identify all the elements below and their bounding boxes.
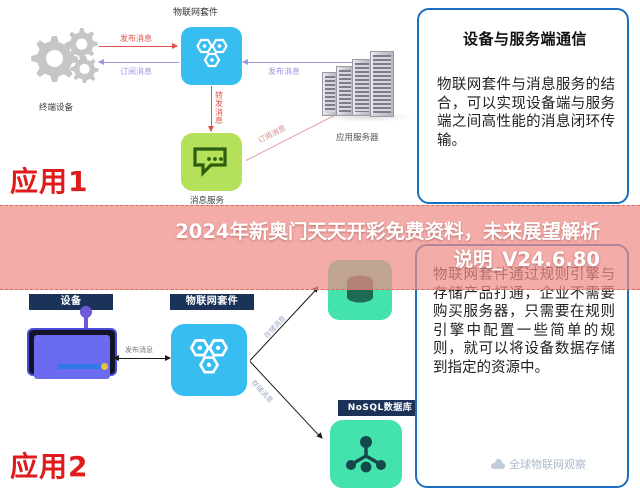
nosql-db-tag: NoSQL数据库 xyxy=(338,400,422,416)
promo-banner-line1: 2024年新奥门天天开彩免费资料，未来展望解析 xyxy=(175,220,600,243)
card-top-title: 设备与服务端通信 xyxy=(429,28,621,49)
device-tag: 设备 xyxy=(29,294,113,310)
publish-message-arrow-bottom xyxy=(114,358,170,359)
subscribe-message-label-left: 订阅消息 xyxy=(120,66,152,77)
publish-message-label-bottom: 发布消息 xyxy=(125,345,153,355)
iot-suite-tag: 物联网套件 xyxy=(170,294,254,310)
watermark-text: 全球物联网观察 xyxy=(509,456,586,472)
cloud-logo-icon xyxy=(491,459,505,469)
card-top-body: 物联网套件与消息服务的结合，可以实现设备端与服务端之间高性能的消息闭环传输。 xyxy=(437,76,615,150)
device-monitor-icon xyxy=(27,316,117,360)
watermark: 全球物联网观察 xyxy=(491,456,586,472)
iot-suite-icon-top xyxy=(181,27,242,85)
terminal-device-gear-icon xyxy=(22,22,102,94)
iot-suite-label-top: 物联网套件 xyxy=(173,5,218,18)
publish-message-label-left: 发布消息 xyxy=(120,33,152,44)
device-server-communication-card: 设备与服务端通信 物联网套件与消息服务的结合，可以实现设备端与服务端之间高性能的… xyxy=(417,8,629,204)
store-message-label-upper: 存储消息 xyxy=(262,314,288,341)
terminal-device-label: 终端设备 xyxy=(39,101,73,113)
subscribe-message-arrow-left xyxy=(99,62,179,63)
iot-suite-icon-bottom xyxy=(171,324,247,396)
publish-message-arrow-left xyxy=(99,46,177,47)
promo-banner-line2: 说明_V24.6.80 xyxy=(454,248,601,271)
store-message-label-lower: 存储消息 xyxy=(249,378,275,405)
promo-banner-overlay: 2024年新奥门天天开彩免费资料，未来展望解析 说明_V24.6.80 xyxy=(0,205,640,290)
application-server-icon xyxy=(320,46,416,130)
store-message-arrow-lower xyxy=(250,361,322,438)
message-service-icon xyxy=(181,133,242,191)
publish-message-label-right: 发布消息 xyxy=(268,66,300,77)
forward-message-arrow xyxy=(211,86,212,131)
app2-label: 应用2 xyxy=(10,445,88,485)
forward-message-label: 转发消息 xyxy=(215,92,229,126)
app1-label: 应用1 xyxy=(10,160,88,200)
nosql-database-icon xyxy=(330,420,402,488)
application-server-label: 应用服务器 xyxy=(336,131,379,143)
promo-banner-text: 2024年新奥门天天开彩免费资料，未来展望解析 说明_V24.6.80 xyxy=(40,218,600,275)
subscribe-message-label-diagonal: 订阅消息 xyxy=(256,122,288,145)
screenshot-canvas: 终端设备 物联网套件 发布消息 订阅消息 xyxy=(0,0,640,496)
